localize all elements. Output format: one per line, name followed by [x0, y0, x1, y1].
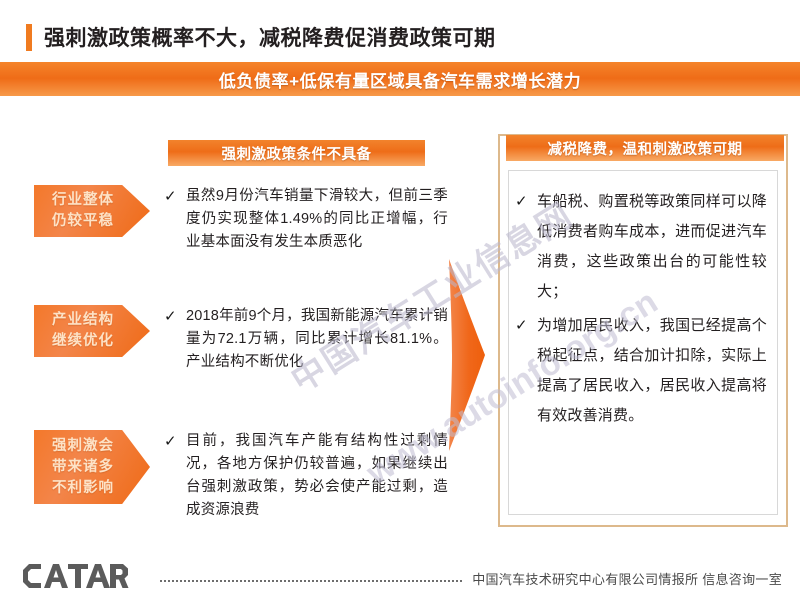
check-icon: ✓	[164, 430, 186, 522]
chevron-label-stimulus-drawbacks: 强刺激会 带来诸多 不利影响	[34, 430, 150, 504]
left-bullet-1-text: 虽然9月份汽车销量下滑较大，但前三季度仍实现整体1.49%的同比正增幅，行业基本…	[186, 185, 448, 254]
chevron-label-structure-optimizing: 产业结构 继续优化	[34, 305, 150, 357]
check-icon: ✓	[515, 311, 537, 431]
page-title: 强刺激政策概率不大，减税降费促消费政策可期	[44, 22, 496, 52]
right-bullet-2: ✓ 为增加居民收入，我国已经提高个税起征点，结合加计扣除，实际上提高了居民收入，…	[515, 311, 767, 431]
slide-footer: 中国汽车技术研究中心有限公司情报所 信息咨询一室	[0, 556, 800, 600]
left-row-3: 强刺激会 带来诸多 不利影响 ✓ 目前，我国汽车产能有结构性过剩情况，各地方保护…	[0, 430, 470, 522]
check-icon: ✓	[164, 185, 186, 254]
chevron-line: 继续优化	[52, 331, 114, 352]
left-row-1: 行业整体 仍较平稳 ✓ 虽然9月份汽车销量下滑较大，但前三季度仍实现整体1.49…	[0, 185, 470, 254]
chevron-line: 仍较平稳	[52, 211, 114, 232]
left-bullet-3: ✓ 目前，我国汽车产能有结构性过剩情况，各地方保护仍较普遍，如果继续出台强刺激政…	[164, 430, 470, 522]
left-bullet-1: ✓ 虽然9月份汽车销量下滑较大，但前三季度仍实现整体1.49%的同比正增幅，行业…	[164, 185, 470, 254]
right-bullet-2-text: 为增加居民收入，我国已经提高个税起征点，结合加计扣除，实际上提高了居民收入，居民…	[537, 311, 767, 431]
check-icon: ✓	[515, 187, 537, 307]
slide-root: 强刺激政策概率不大，减税降费促消费政策可期 低负债率+低保有量区域具备汽车需求增…	[0, 0, 800, 600]
chevron-line: 行业整体	[52, 190, 114, 211]
headline-banner-text: 低负债率+低保有量区域具备汽车需求增长潜力	[219, 67, 582, 92]
catarc-logo	[22, 564, 130, 593]
right-panel: 减税降费，温和刺激政策可期 ✓ 车船税、购置税等政策同样可以降低消费者购车成本，…	[498, 134, 788, 527]
footer-attribution: 中国汽车技术研究中心有限公司情报所 信息咨询一室	[472, 569, 782, 588]
flow-arrow-right-icon	[438, 255, 490, 455]
right-panel-body: ✓ 车船税、购置税等政策同样可以降低消费者购车成本，进而促进汽车消费，这些政策出…	[508, 170, 778, 515]
chevron-label-industry-stable: 行业整体 仍较平稳	[34, 185, 150, 237]
title-accent-bar	[26, 24, 32, 51]
left-bullet-2-text: 2018年前9个月，我国新能源汽车累计销量为72.1万辆，同比累计增长81.1%…	[186, 305, 448, 374]
chevron-line: 产业结构	[52, 310, 114, 331]
left-bullet-3-text: 目前，我国汽车产能有结构性过剩情况，各地方保护仍较普遍，如果继续出台强刺激政策，…	[186, 430, 448, 522]
chevron-line: 带来诸多	[52, 457, 114, 478]
chevron-line: 强刺激会	[52, 436, 114, 457]
check-icon: ✓	[164, 305, 186, 374]
right-bullet-1: ✓ 车船税、购置税等政策同样可以降低消费者购车成本，进而促进汽车消费，这些政策出…	[515, 187, 767, 307]
left-column-header-text: 强刺激政策条件不具备	[222, 143, 372, 164]
left-bullet-2: ✓ 2018年前9个月，我国新能源汽车累计销量为72.1万辆，同比累计增长81.…	[164, 305, 470, 374]
left-column-header: 强刺激政策条件不具备	[168, 140, 425, 166]
right-panel-header-text: 减税降费，温和刺激政策可期	[548, 138, 743, 159]
right-panel-header: 减税降费，温和刺激政策可期	[506, 135, 784, 161]
left-column: 强刺激政策条件不具备 行业整体 仍较平稳 ✓ 虽然9月份汽车销量下滑较大，但前三…	[0, 110, 470, 540]
left-row-2: 产业结构 继续优化 ✓ 2018年前9个月，我国新能源汽车累计销量为72.1万辆…	[0, 305, 470, 374]
chevron-line: 不利影响	[52, 478, 114, 499]
slide-title-row: 强刺激政策概率不大，减税降费促消费政策可期	[0, 18, 800, 56]
headline-banner: 低负债率+低保有量区域具备汽车需求增长潜力	[0, 62, 800, 96]
footer-divider	[160, 580, 462, 582]
right-bullet-1-text: 车船税、购置税等政策同样可以降低消费者购车成本，进而促进汽车消费，这些政策出台的…	[537, 187, 767, 307]
